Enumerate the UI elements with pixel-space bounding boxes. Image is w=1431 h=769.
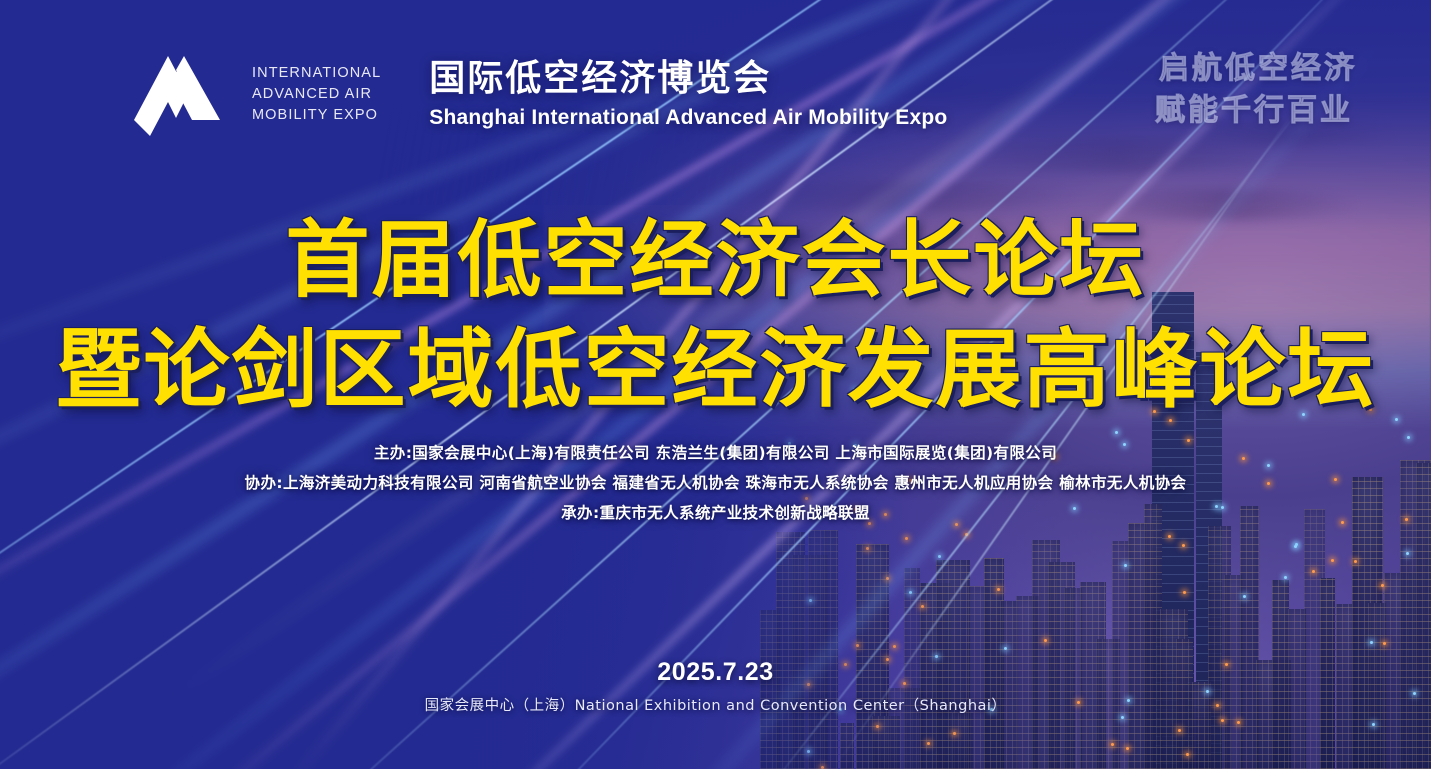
event-date: 2025.7.23 — [0, 658, 1431, 687]
logo-word-line-3: MOBILITY EXPO — [252, 105, 381, 126]
slogan-line-2: 赋能千行百业 — [1155, 90, 1357, 132]
expo-title-cn: 国际低空经济博览会 — [429, 58, 947, 99]
slogan-block: 启航低空经济 赋能千行百业 — [1155, 48, 1357, 132]
logo-word-line-2: ADVANCED AIR — [252, 84, 381, 105]
logo-word-line-1: INTERNATIONAL — [252, 63, 381, 84]
event-footer: 2025.7.23 国家会展中心（上海）National Exhibition … — [0, 658, 1431, 715]
expo-mountain-logo-icon — [128, 48, 238, 140]
organizer-undertaker-line: 承办:重庆市无人系统产业技术创新战略联盟 — [0, 498, 1431, 528]
brand-header: INTERNATIONAL ADVANCED AIR MOBILITY EXPO… — [128, 48, 947, 140]
event-venue: 国家会展中心（上海）National Exhibition and Conven… — [0, 694, 1431, 715]
forum-title-line-1: 首届低空经济会长论坛 — [0, 210, 1431, 310]
expo-title-block: 国际低空经济博览会 Shanghai International Advance… — [429, 58, 947, 129]
organizer-host-line: 主办:国家会展中心(上海)有限责任公司 东浩兰生(集团)有限公司 上海市国际展览… — [0, 438, 1431, 468]
forum-title-block: 首届低空经济会长论坛 暨论剑区域低空经济发展高峰论坛 — [0, 210, 1431, 422]
organizer-block: 主办:国家会展中心(上海)有限责任公司 东浩兰生(集团)有限公司 上海市国际展览… — [0, 438, 1431, 528]
event-banner: INTERNATIONAL ADVANCED AIR MOBILITY EXPO… — [0, 0, 1431, 769]
organizer-cohost-line: 协办:上海济美动力科技有限公司 河南省航空业协会 福建省无人机协会 珠海市无人系… — [0, 468, 1431, 498]
expo-title-en: Shanghai International Advanced Air Mobi… — [429, 106, 947, 130]
forum-title-line-2: 暨论剑区域低空经济发展高峰论坛 — [0, 318, 1431, 422]
logo-wordmark: INTERNATIONAL ADVANCED AIR MOBILITY EXPO — [252, 63, 381, 126]
slogan-line-1: 启航低空经济 — [1155, 48, 1357, 90]
